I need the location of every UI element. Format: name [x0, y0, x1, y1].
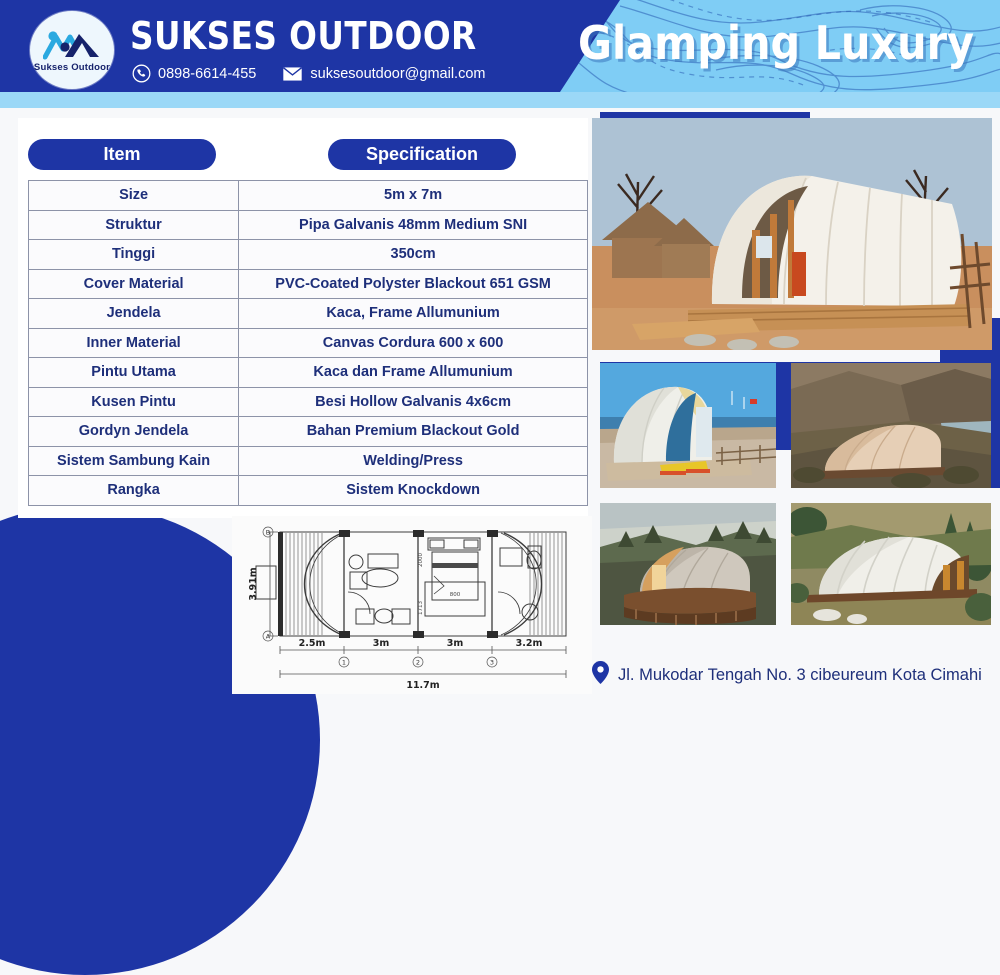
cell-item: Struktur [29, 210, 239, 240]
bay-dim-3: 3m [447, 638, 464, 649]
table-header-item: Item [28, 139, 216, 170]
logo-mark-icon [43, 27, 101, 61]
grid-mark-1: 1 [342, 658, 346, 666]
cell-spec: Besi Hollow Galvanis 4x6cm [239, 387, 588, 417]
bay-dim-4: 3.2m [516, 638, 543, 649]
email-address: suksesoutdoor@gmail.com [310, 66, 485, 82]
floor-plan-drawing: B A 1 2 3 2.5m 3m 3m 3.2m 11.7m 3.91m 20… [232, 516, 592, 694]
glamping-tent-coastal-cliff[interactable] [791, 363, 991, 488]
table-row: RangkaSistem Knockdown [29, 476, 588, 506]
cell-item: Kusen Pintu [29, 387, 239, 417]
address-row: Jl. Mukodar Tengah No. 3 cibeureum Kota … [592, 661, 982, 689]
photo-illustration [791, 363, 991, 488]
grid-mark-2: 2 [416, 658, 420, 666]
cell-spec: Welding/Press [239, 446, 588, 476]
cell-spec: Bahan Premium Blackout Gold [239, 417, 588, 447]
inner-dim-800: 800 [450, 592, 461, 598]
cell-spec: PVC-Coated Polyster Blackout 651 GSM [239, 269, 588, 299]
table-row: Size5m x 7m [29, 181, 588, 211]
glamping-tent-exterior-main[interactable] [592, 118, 992, 350]
brand-title: SUKSES OUTDOOR [130, 14, 477, 58]
cell-spec: 5m x 7m [239, 181, 588, 211]
address-text: Jl. Mukodar Tengah No. 3 cibeureum Kota … [618, 666, 982, 685]
cell-item: Gordyn Jendela [29, 417, 239, 447]
cell-spec: Kaca, Frame Allumunium [239, 299, 588, 329]
table-row: JendelaKaca, Frame Allumunium [29, 299, 588, 329]
phone-contact[interactable]: 0898-6614-455 [132, 64, 256, 83]
cell-item: Rangka [29, 476, 239, 506]
table-header-specification: Specification [328, 139, 516, 170]
table-row: StrukturPipa Galvanis 48mm Medium SNI [29, 210, 588, 240]
photo-illustration [600, 503, 776, 625]
cell-item: Pintu Utama [29, 358, 239, 388]
envelope-icon [282, 66, 303, 82]
bay-dim-1: 2.5m [299, 638, 326, 649]
glamping-tent-seaside-terrace[interactable] [600, 363, 776, 488]
specification-table: Size5m x 7m StrukturPipa Galvanis 48mm M… [28, 180, 588, 506]
table-row: Tinggi350cm [29, 240, 588, 270]
glamping-tent-hillside-dusk[interactable] [600, 503, 776, 625]
logo-label: Sukses Outdoor [34, 62, 110, 73]
sukses-outdoor-logo-icon: Sukses Outdoor [30, 11, 114, 89]
cell-spec: Sistem Knockdown [239, 476, 588, 506]
grid-mark-b: B [266, 528, 270, 536]
cell-spec: Canvas Cordura 600 x 600 [239, 328, 588, 358]
cell-spec: Kaca dan Frame Allumunium [239, 358, 588, 388]
total-dim: 11.7m [406, 680, 439, 691]
grid-mark-a: A [266, 632, 271, 640]
table-row: Inner MaterialCanvas Cordura 600 x 600 [29, 328, 588, 358]
map-pin-icon [592, 661, 609, 689]
phone-circle-icon [132, 64, 151, 83]
cell-item: Jendela [29, 299, 239, 329]
cell-spec: 350cm [239, 240, 588, 270]
cell-item: Inner Material [29, 328, 239, 358]
page-title: Glamping Luxury [578, 16, 974, 70]
bay-dim-2: 3m [373, 638, 390, 649]
header-light-strip [0, 92, 1000, 108]
specification-table-body: Size5m x 7m StrukturPipa Galvanis 48mm M… [29, 181, 588, 506]
cell-item: Tinggi [29, 240, 239, 270]
floor-plan-svg: B A 1 2 3 2.5m 3m 3m 3.2m 11.7m 3.91m 20… [232, 516, 592, 694]
table-row: Kusen PintuBesi Hollow Galvanis 4x6cm [29, 387, 588, 417]
page-header: Sukses Outdoor SUKSES OUTDOOR 0898-6614-… [0, 0, 1000, 108]
cell-item: Size [29, 181, 239, 211]
phone-number: 0898-6614-455 [158, 66, 256, 82]
table-row: Gordyn JendelaBahan Premium Blackout Gol… [29, 417, 588, 447]
table-row: Sistem Sambung KainWelding/Press [29, 446, 588, 476]
cell-spec: Pipa Galvanis 48mm Medium SNI [239, 210, 588, 240]
cell-item: Sistem Sambung Kain [29, 446, 239, 476]
photo-illustration [592, 118, 992, 350]
inner-dim-2000: 2000 [418, 553, 424, 567]
email-contact[interactable]: suksesoutdoor@gmail.com [282, 66, 485, 82]
photo-illustration [791, 503, 991, 625]
table-row: Cover MaterialPVC-Coated Polyster Blacko… [29, 269, 588, 299]
contact-row: 0898-6614-455 suksesoutdoor@gmail.com [132, 64, 485, 83]
depth-dim: 3.91m [248, 567, 259, 600]
table-row: Pintu UtamaKaca dan Frame Allumunium [29, 358, 588, 388]
cell-item: Cover Material [29, 269, 239, 299]
glamping-tent-hillside-day[interactable] [791, 503, 991, 625]
photo-illustration [600, 363, 776, 488]
inner-dim-1713: 1713 [418, 601, 424, 615]
grid-mark-3: 3 [490, 658, 494, 666]
